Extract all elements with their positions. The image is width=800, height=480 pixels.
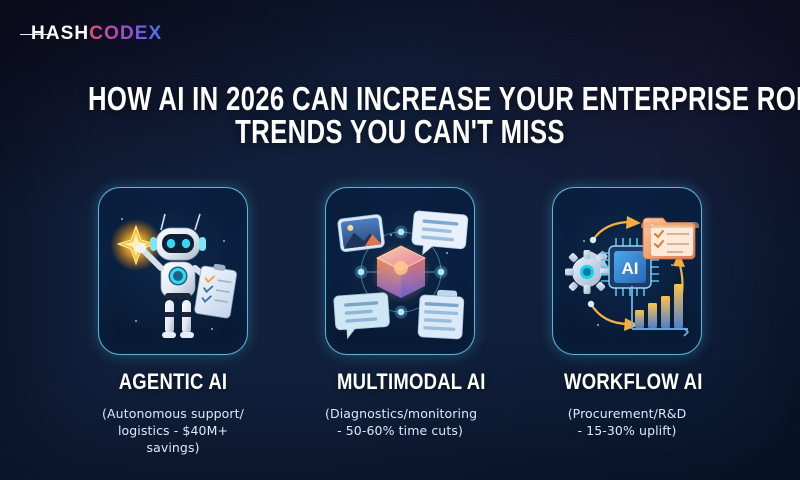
page-title: HOW AI IN 2026 CAN INCREASE YOUR ENTERPR… — [0, 82, 800, 148]
trend-card-title: MULTIMODAL AI — [337, 371, 463, 393]
trend-card-caption: (Procurement/R&D - 15-30% uplift) — [552, 405, 702, 439]
network-cube-with-image-chat-document-icon — [326, 188, 475, 355]
svg-text:AI: AI — [622, 259, 639, 278]
trend-card-title: WORKFLOW AI — [564, 371, 690, 393]
trend-card-agentic-ai[interactable]: AGENTIC AI (Autonomous support/ logistic… — [98, 187, 248, 456]
infographic-slide: HASHCODEX HOW AI IN 2026 CAN INCREASE YO… — [0, 0, 800, 480]
gear-ai-chip-folder-barchart-icon: AI — [553, 188, 702, 355]
brand-logo-hash: HASH — [27, 24, 89, 43]
brand-logo[interactable]: HASHCODEX — [27, 24, 162, 43]
robot-with-clipboard-and-star-icon — [99, 188, 248, 355]
agentic-ai-icon-panel — [98, 187, 248, 355]
trend-card-workflow-ai[interactable]: AI — [552, 187, 702, 456]
multimodal-ai-icon-panel — [325, 187, 475, 355]
workflow-ai-icon-panel: AI — [552, 187, 702, 355]
trend-card-caption: (Diagnostics/monitoring - 50-60% time cu… — [325, 405, 475, 439]
trend-card-caption: (Autonomous support/ logistics - $40M+ s… — [98, 405, 248, 456]
trend-card-title: AGENTIC AI — [110, 371, 236, 393]
page-title-line-1: HOW AI IN 2026 CAN INCREASE YOUR ENTERPR… — [88, 82, 712, 115]
page-title-line-2: TRENDS YOU CAN'T MISS — [88, 115, 712, 148]
trend-card-multimodal-ai[interactable]: MULTIMODAL AI (Diagnostics/monitoring - … — [325, 187, 475, 456]
brand-logo-codex: CODEX — [89, 24, 162, 43]
trend-cards-row: AGENTIC AI (Autonomous support/ logistic… — [0, 187, 800, 456]
